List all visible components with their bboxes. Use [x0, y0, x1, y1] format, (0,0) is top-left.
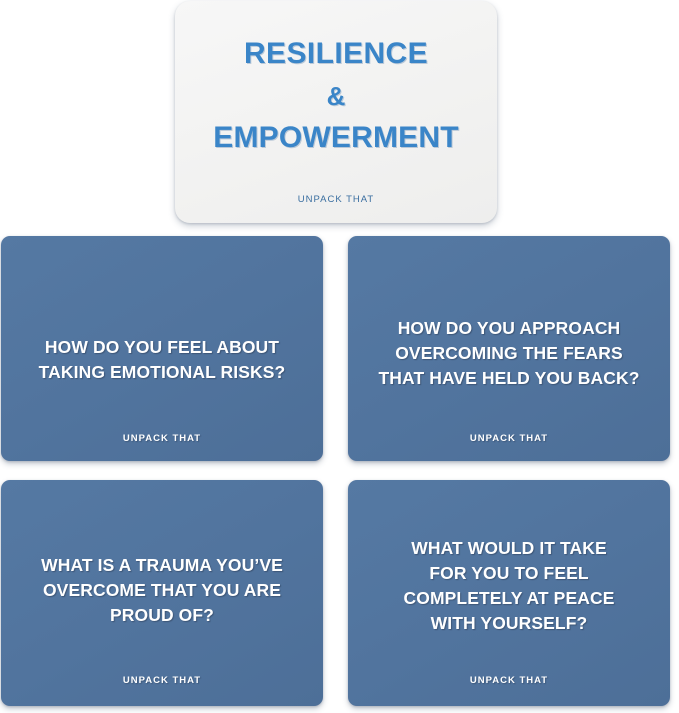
question-line: TAKING EMOTIONAL RISKS? [17, 360, 307, 385]
brand-mark-bottom-left: UNPACK THAT [1, 675, 323, 686]
brand-mark-title-card: UNPACK THAT [175, 194, 497, 205]
question-text-top-right: HOW DO YOU APPROACH OVERCOMING THE FEARS… [348, 316, 670, 391]
question-line: WHAT WOULD IT TAKE [364, 536, 654, 561]
title-ampersand: & [175, 83, 497, 109]
question-text-top-left: HOW DO YOU FEEL ABOUT TAKING EMOTIONAL R… [1, 335, 323, 385]
question-card-top-right: HOW DO YOU APPROACH OVERCOMING THE FEARS… [348, 236, 670, 461]
title-card: RESILIENCE & EMPOWERMENT UNPACK THAT [175, 1, 497, 223]
question-line: COMPLETELY AT PEACE [364, 586, 654, 611]
title-line-resilience: RESILIENCE [175, 39, 497, 69]
question-line: HOW DO YOU APPROACH [364, 316, 654, 341]
title-line-empowerment: EMPOWERMENT [175, 123, 497, 153]
question-card-bottom-left: WHAT IS A TRAUMA YOU’VE OVERCOME THAT YO… [1, 480, 323, 706]
question-text-bottom-right: WHAT WOULD IT TAKE FOR YOU TO FEEL COMPL… [348, 536, 670, 636]
question-line: THAT HAVE HELD YOU BACK? [364, 366, 654, 391]
title-text-block: RESILIENCE & EMPOWERMENT [175, 39, 497, 153]
brand-mark-bottom-right: UNPACK THAT [348, 675, 670, 686]
brand-mark-top-left: UNPACK THAT [1, 433, 323, 444]
question-line: PROUD OF? [17, 603, 307, 628]
question-line: FOR YOU TO FEEL [364, 561, 654, 586]
question-line: HOW DO YOU FEEL ABOUT [17, 335, 307, 360]
question-card-top-left: HOW DO YOU FEEL ABOUT TAKING EMOTIONAL R… [1, 236, 323, 461]
brand-mark-top-right: UNPACK THAT [348, 433, 670, 444]
question-line: OVERCOME THAT YOU ARE [17, 578, 307, 603]
question-line: WHAT IS A TRAUMA YOU’VE [17, 553, 307, 578]
question-line: OVERCOMING THE FEARS [364, 341, 654, 366]
question-card-bottom-right: WHAT WOULD IT TAKE FOR YOU TO FEEL COMPL… [348, 480, 670, 706]
question-line: WITH YOURSELF? [364, 611, 654, 636]
question-text-bottom-left: WHAT IS A TRAUMA YOU’VE OVERCOME THAT YO… [1, 553, 323, 628]
